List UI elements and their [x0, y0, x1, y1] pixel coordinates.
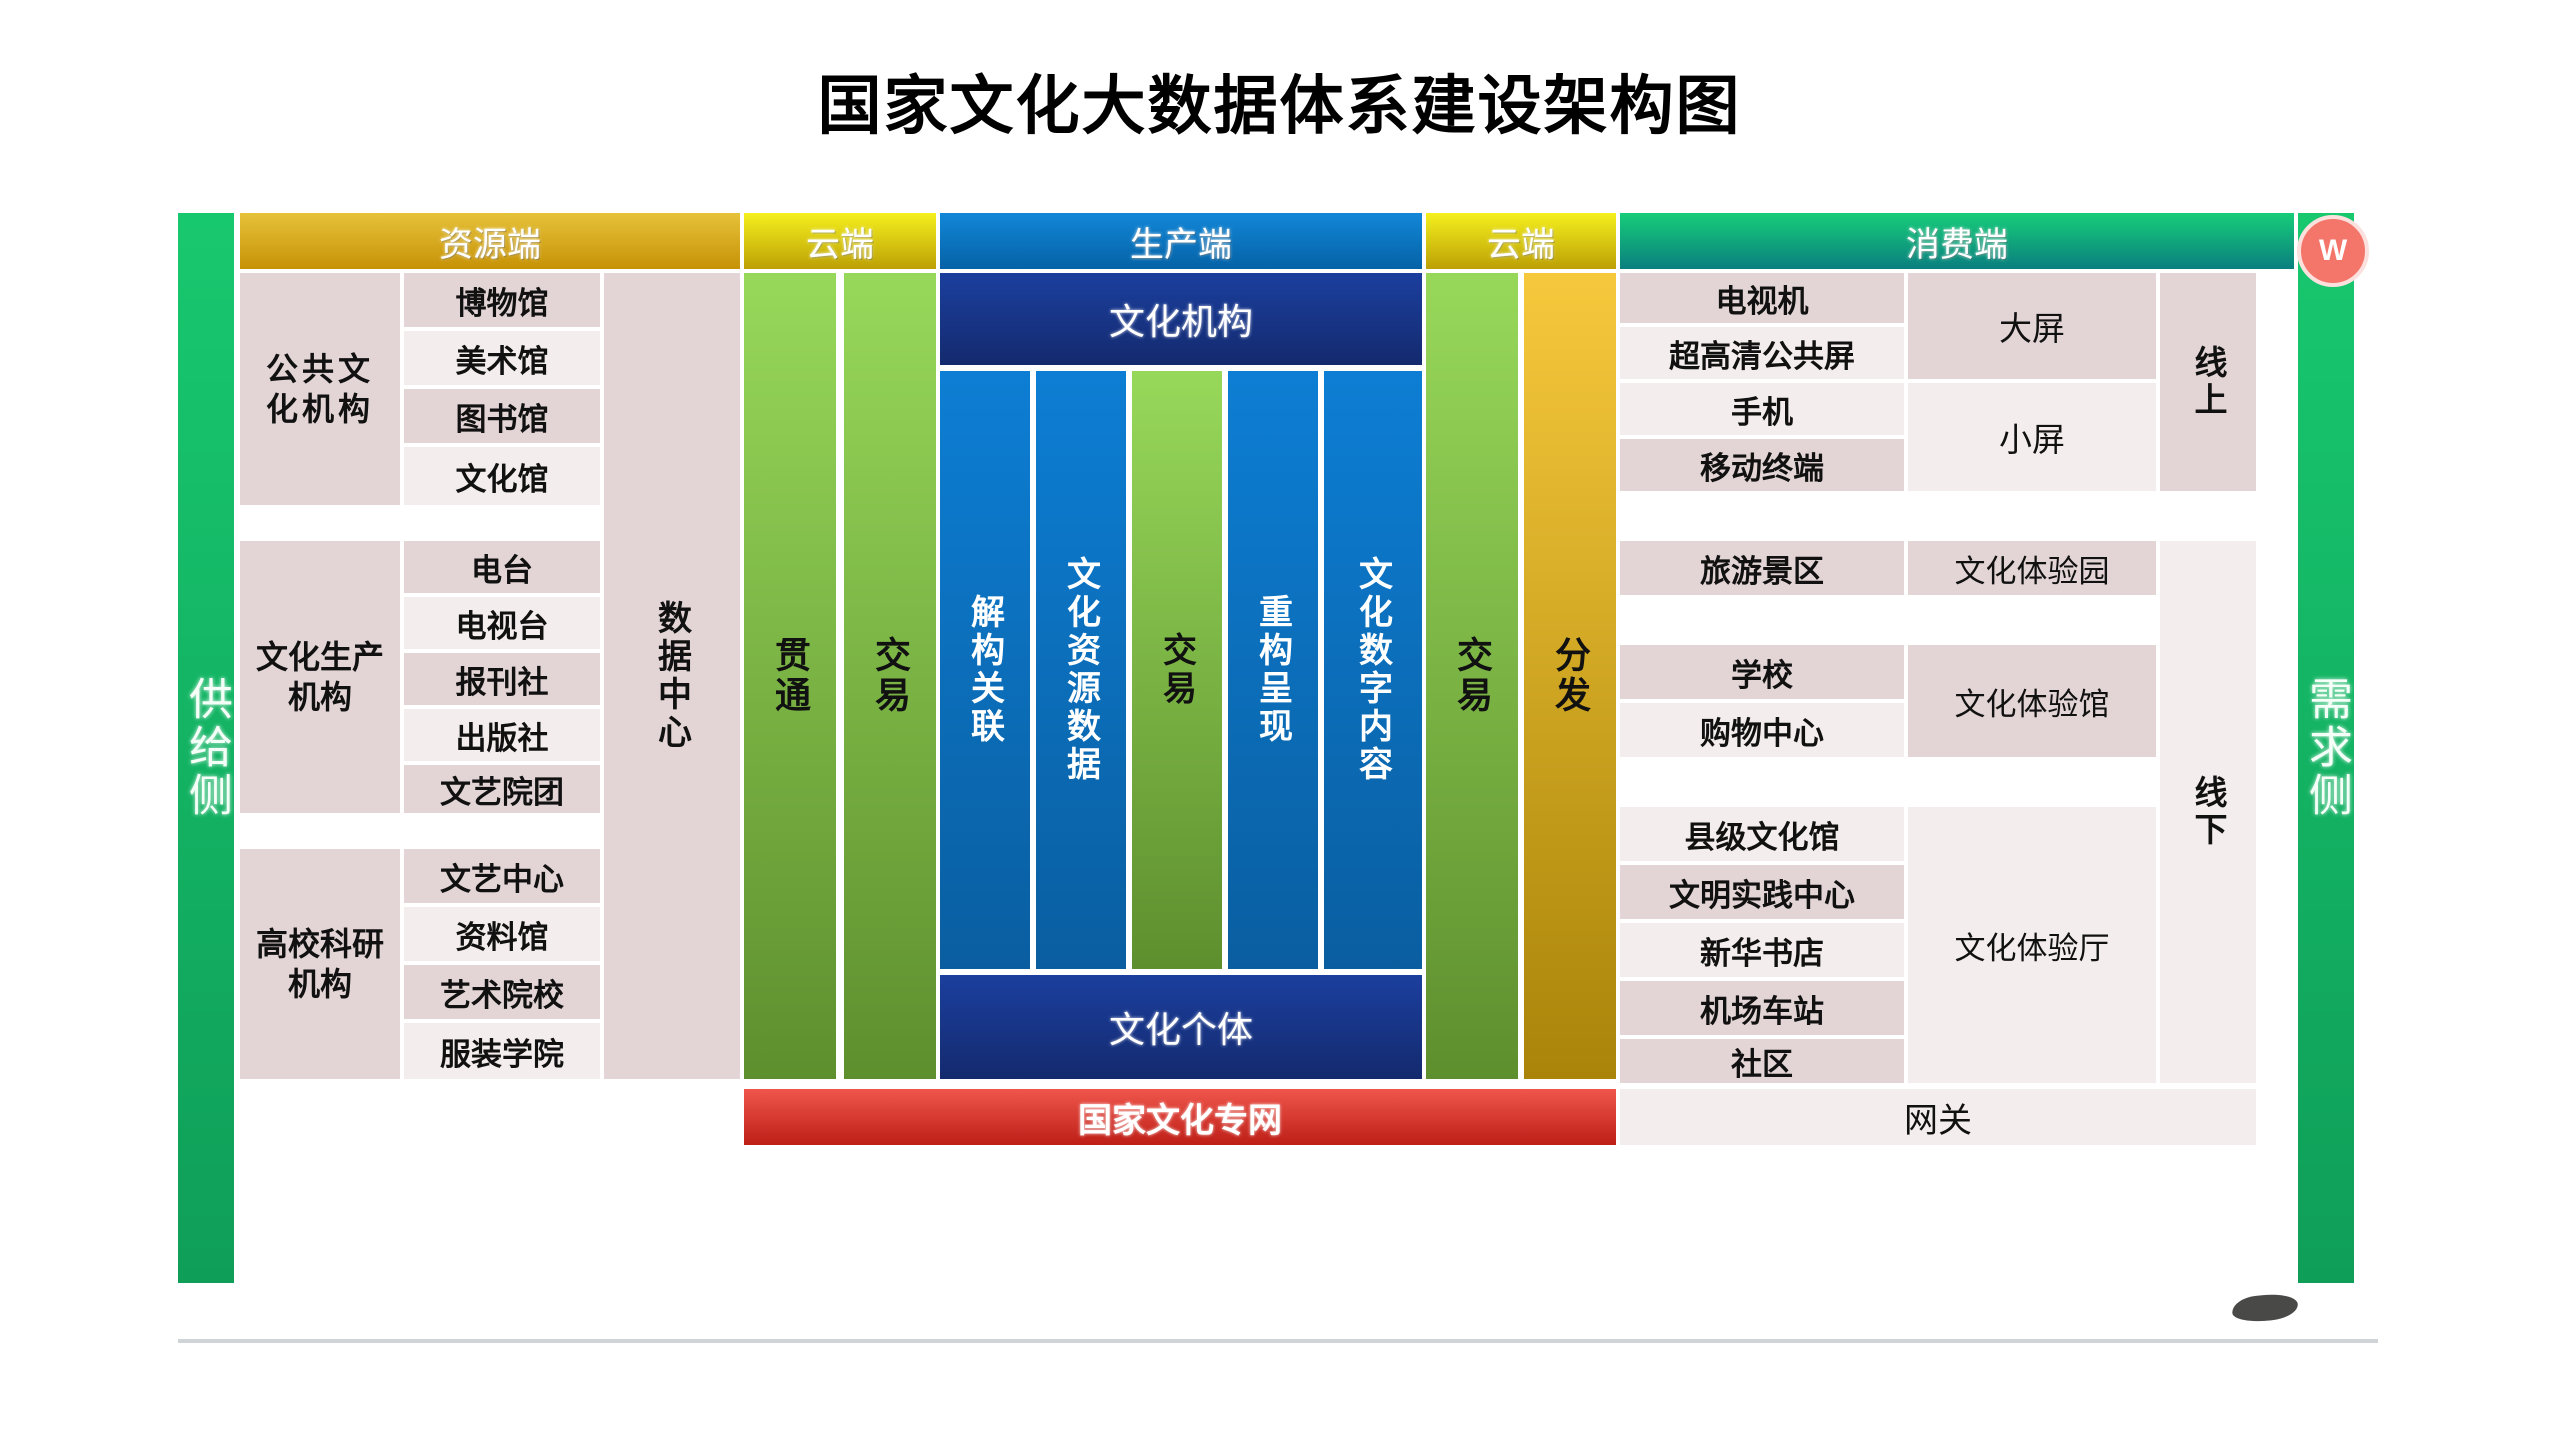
consumption-screen-small: 小屏 [1908, 383, 2156, 491]
production-column-deconstruct-relate: 解构关联 [940, 371, 1030, 969]
consumption-item: 文明实践中心 [1620, 865, 1904, 919]
architecture-diagram: 供给侧 需求侧 资源端 云端 生产端 云端 消费端 公共文化机构 博物馆 美术馆… [178, 213, 2378, 1313]
consumption-item: 新华书店 [1620, 923, 1904, 977]
header-cloud-left: 云端 [744, 213, 936, 269]
consumption-item: 机场车站 [1620, 981, 1904, 1035]
production-block-cultural-individuals: 文化个体 [940, 975, 1422, 1079]
supply-side-rail: 供给侧 [178, 213, 234, 1283]
resource-item: 资料馆 [404, 907, 600, 961]
resource-item: 博物馆 [404, 273, 600, 327]
consumption-item: 社区 [1620, 1039, 1904, 1083]
resource-item: 电视台 [404, 597, 600, 649]
production-column-reconstruct-present: 重构呈现 [1228, 371, 1318, 969]
slide-baseline-divider [178, 1339, 2378, 1343]
consumption-item: 购物中心 [1620, 703, 1904, 757]
cloud-left-column-guantong: 贯通 [744, 273, 836, 1079]
production-column-trade: 交易 [1132, 371, 1222, 969]
resource-item: 报刊社 [404, 653, 600, 705]
consumption-online-label: 线上 [2160, 273, 2256, 491]
gateway-bar: 网关 [1620, 1089, 2256, 1145]
resource-group-culture-production: 文化生产机构 [240, 541, 400, 813]
wps-watermark-icon: W [2297, 215, 2369, 287]
resource-item: 服装学院 [404, 1023, 600, 1079]
resource-item: 电台 [404, 541, 600, 593]
consumption-venue-park: 文化体验园 [1908, 541, 2156, 595]
page-title: 国家文化大数据体系建设架构图 [0, 55, 2559, 147]
production-block-cultural-institutions: 文化机构 [940, 273, 1422, 365]
header-cloud-right: 云端 [1426, 213, 1616, 269]
consumption-item: 移动终端 [1620, 439, 1904, 491]
cloud-right-column-trade: 交易 [1426, 273, 1518, 1079]
resource-item: 美术馆 [404, 331, 600, 385]
data-center-column: 数据中心 [604, 273, 740, 1079]
national-culture-network-bar: 国家文化专网 [744, 1089, 1616, 1145]
consumption-venue-hall: 文化体验馆 [1908, 645, 2156, 757]
header-production-end: 生产端 [940, 213, 1422, 269]
header-consumption-end: 消费端 [1620, 213, 2294, 269]
demand-side-rail: 需求侧 [2298, 213, 2354, 1283]
resource-item: 文化馆 [404, 447, 600, 505]
header-resource-end: 资源端 [240, 213, 740, 269]
production-column-culture-resource-data: 文化资源数据 [1036, 371, 1126, 969]
resource-group-university-research: 高校科研机构 [240, 849, 400, 1079]
consumption-offline-label: 线下 [2160, 541, 2256, 1083]
cloud-left-column-trade: 交易 [844, 273, 936, 1079]
resource-item: 文艺中心 [404, 849, 600, 903]
consumption-item: 超高清公共屏 [1620, 327, 1904, 379]
consumption-item: 手机 [1620, 383, 1904, 435]
cloud-right-column-distribute: 分发 [1524, 273, 1616, 1079]
consumption-item: 县级文化馆 [1620, 807, 1904, 861]
consumption-item: 旅游景区 [1620, 541, 1904, 595]
production-column-culture-digital-content: 文化数字内容 [1324, 371, 1422, 969]
resource-item: 出版社 [404, 709, 600, 761]
consumption-item: 电视机 [1620, 273, 1904, 323]
consumption-screen-large: 大屏 [1908, 273, 2156, 379]
consumption-item: 学校 [1620, 645, 1904, 699]
resource-item: 艺术院校 [404, 965, 600, 1019]
consumption-venue-room: 文化体验厅 [1908, 807, 2156, 1083]
resource-item: 图书馆 [404, 389, 600, 443]
resource-item: 文艺院团 [404, 765, 600, 813]
resource-group-public-culture: 公共文化机构 [240, 273, 400, 505]
